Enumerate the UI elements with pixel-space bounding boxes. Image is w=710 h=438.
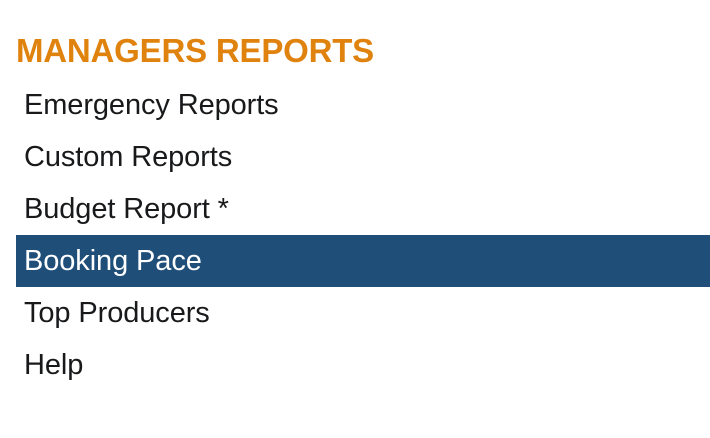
menu-item-label: Help xyxy=(24,339,83,391)
menu-item-custom-reports[interactable]: Custom Reports xyxy=(0,131,710,183)
menu-item-label: Top Producers xyxy=(24,287,210,339)
menu-item-booking-pace[interactable]: Booking Pace xyxy=(16,235,710,287)
managers-reports-menu: Emergency Reports Custom Reports Budget … xyxy=(0,79,710,391)
managers-reports-panel: MANAGERS REPORTS Emergency Reports Custo… xyxy=(0,0,710,438)
menu-item-label: Budget Report * xyxy=(24,183,229,235)
menu-item-help[interactable]: Help xyxy=(0,339,710,391)
menu-item-budget-report[interactable]: Budget Report * xyxy=(0,183,710,235)
menu-item-label: Emergency Reports xyxy=(24,79,279,131)
menu-item-label: Booking Pace xyxy=(24,235,202,287)
menu-item-top-producers[interactable]: Top Producers xyxy=(0,287,710,339)
menu-item-emergency-reports[interactable]: Emergency Reports xyxy=(0,79,710,131)
menu-item-label: Custom Reports xyxy=(24,131,232,183)
page-title: MANAGERS REPORTS xyxy=(16,31,374,71)
